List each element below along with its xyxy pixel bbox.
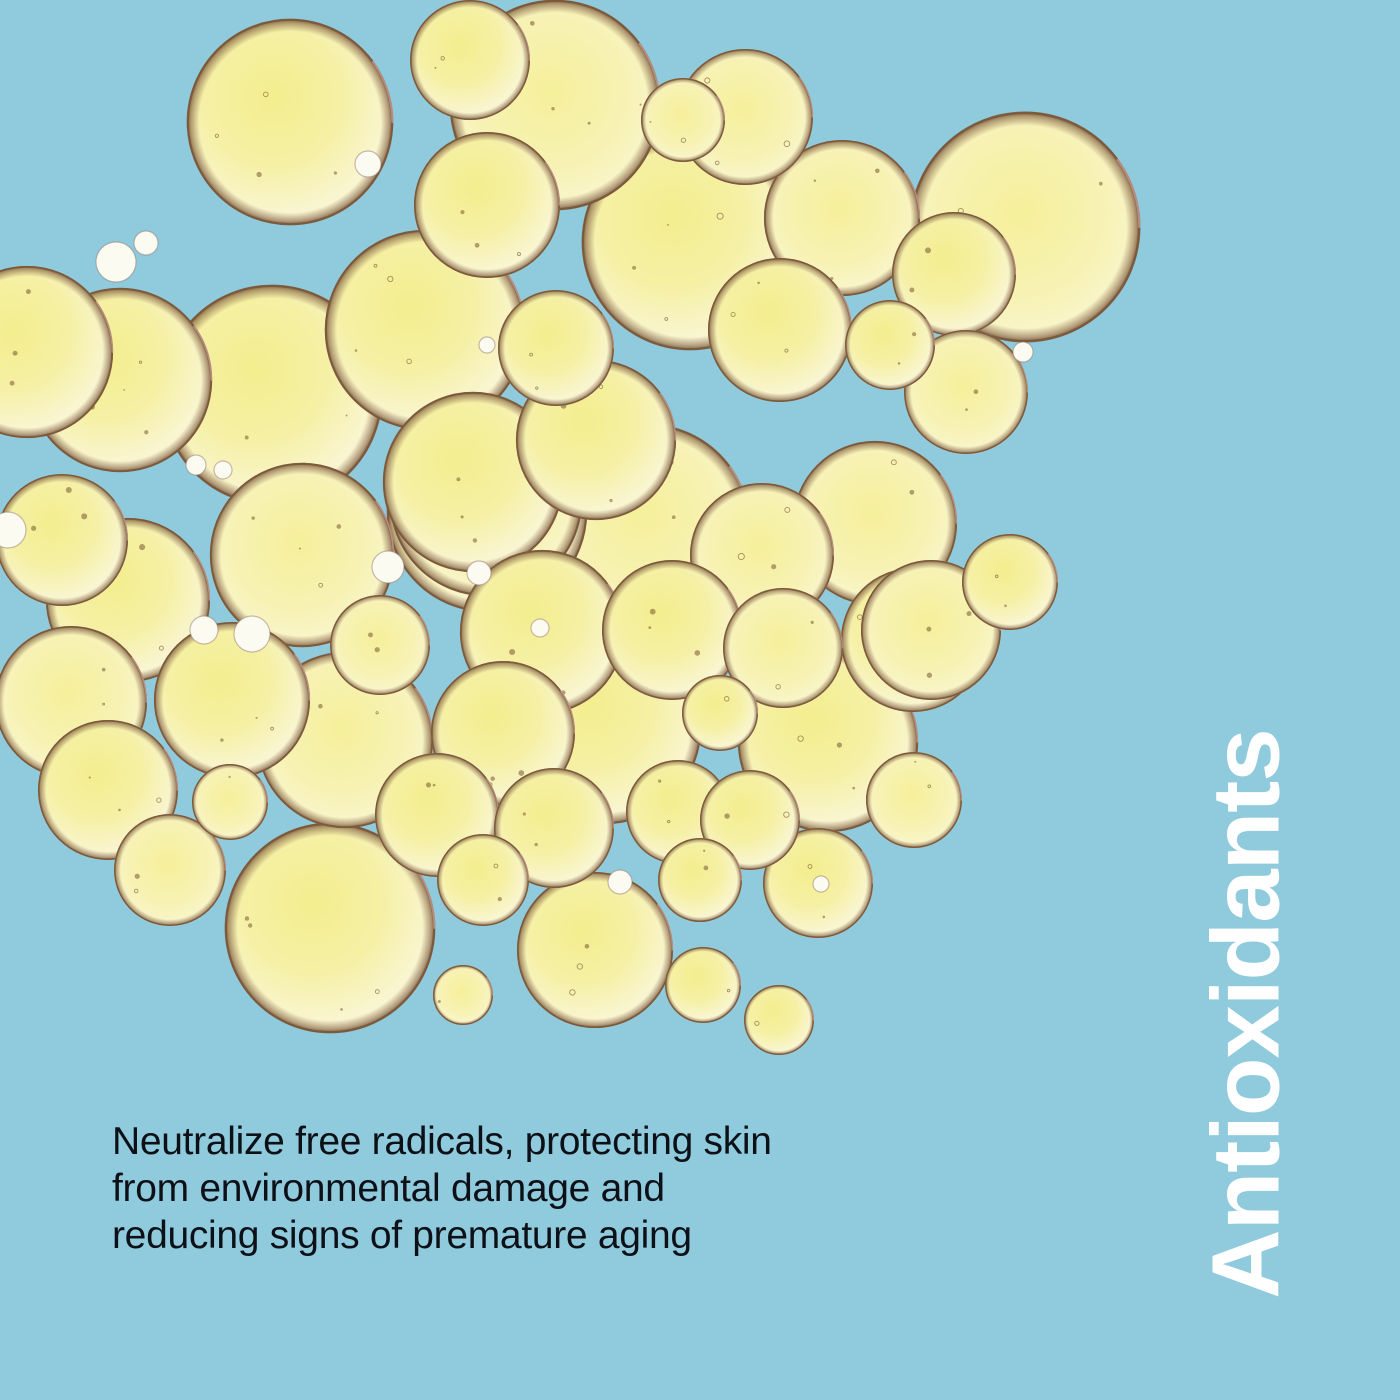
bubble [355, 151, 381, 177]
body-line-3: reducing signs of premature aging [112, 1212, 1112, 1259]
bubble [517, 872, 673, 1028]
bubble [962, 534, 1058, 630]
body-line-2: from environmental damage and [112, 1165, 1112, 1212]
bubble [866, 752, 962, 848]
bubble [134, 231, 158, 255]
bubble [214, 461, 232, 479]
bubble-svg [0, 0, 1400, 1100]
bubble [531, 619, 549, 637]
body-copy: Neutralize free radicals, protecting ski… [112, 1118, 1112, 1259]
bubble [410, 0, 530, 120]
bubble [665, 947, 741, 1023]
bubble [192, 764, 268, 840]
bubble [154, 622, 310, 778]
bubble [414, 132, 560, 278]
bubble [1013, 342, 1033, 362]
bubble [682, 675, 758, 751]
bubble [330, 595, 430, 695]
body-line-1: Neutralize free radicals, protecting ski… [112, 1118, 1112, 1165]
bubble [641, 78, 725, 162]
bubble [744, 985, 814, 1055]
bubble [190, 616, 218, 644]
bubble [708, 258, 852, 402]
title-text: Antioxidants [1201, 729, 1293, 1298]
vertical-title: Antioxidants [1192, 330, 1302, 1060]
bubble [186, 455, 206, 475]
bubble [467, 561, 491, 585]
oil-bubble-cluster-image [0, 0, 1400, 1100]
bubble [498, 290, 614, 406]
social-post-card: Antioxidants Neutralize free radicals, p… [0, 0, 1400, 1400]
bubble [479, 337, 495, 353]
bubble [813, 876, 829, 892]
bubble [433, 965, 493, 1025]
bubble [608, 870, 632, 894]
bubble [96, 242, 136, 282]
bubble [372, 551, 404, 583]
bubble [187, 19, 393, 225]
bubble [234, 616, 270, 652]
bubble [437, 834, 529, 926]
bubble [845, 300, 935, 390]
bubble [658, 838, 742, 922]
